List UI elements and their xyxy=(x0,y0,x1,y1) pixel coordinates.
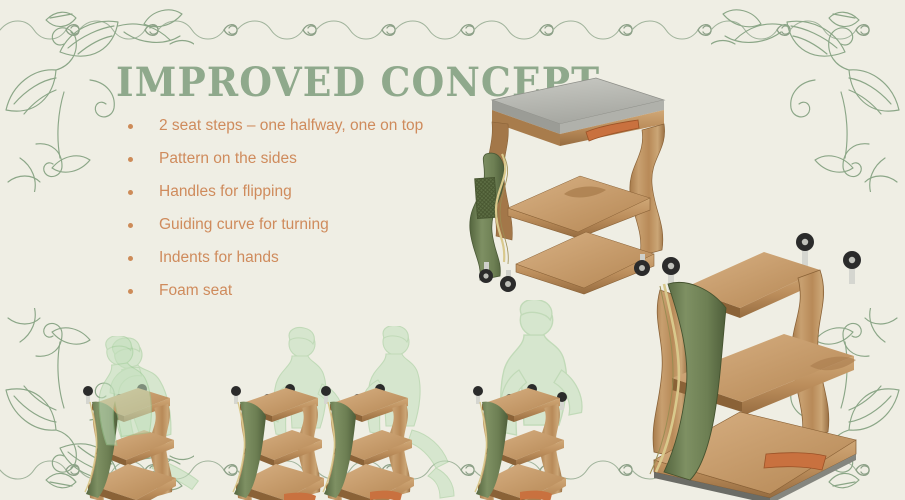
bullet-dot-icon xyxy=(128,223,133,228)
list-item: Pattern on the sides xyxy=(128,149,428,168)
flipped-stool-render xyxy=(624,232,905,500)
bullet-dot-icon xyxy=(128,157,133,162)
usage-step-4 xyxy=(460,300,610,500)
list-item-label: Guiding curve for turning xyxy=(159,215,329,234)
list-item-label: Foam seat xyxy=(159,281,232,300)
list-item-label: Indents for hands xyxy=(159,248,279,267)
usage-step-3 xyxy=(316,326,476,500)
usage-step-5 xyxy=(86,336,156,500)
bullet-dot-icon xyxy=(128,190,133,195)
list-item: Guiding curve for turning xyxy=(128,215,428,234)
list-item-label: Handles for flipping xyxy=(159,182,292,201)
list-item: 2 seat steps – one halfway, one on top xyxy=(128,116,428,135)
list-item: Foam seat xyxy=(128,281,428,300)
feature-bullet-list: 2 seat steps – one halfway, one on top P… xyxy=(128,116,428,314)
list-item-label: 2 seat steps – one halfway, one on top xyxy=(159,116,423,135)
list-item-label: Pattern on the sides xyxy=(159,149,297,168)
list-item: Handles for flipping xyxy=(128,182,428,201)
top-edge-scroll-ornament xyxy=(0,14,905,48)
slide-canvas: Improved Concept 2 seat steps – one half… xyxy=(0,0,905,500)
bullet-dot-icon xyxy=(128,256,133,261)
list-item: Indents for hands xyxy=(128,248,428,267)
corner-floral-ornament-top-right xyxy=(711,0,905,192)
bullet-dot-icon xyxy=(128,124,133,129)
bullet-dot-icon xyxy=(128,289,133,294)
